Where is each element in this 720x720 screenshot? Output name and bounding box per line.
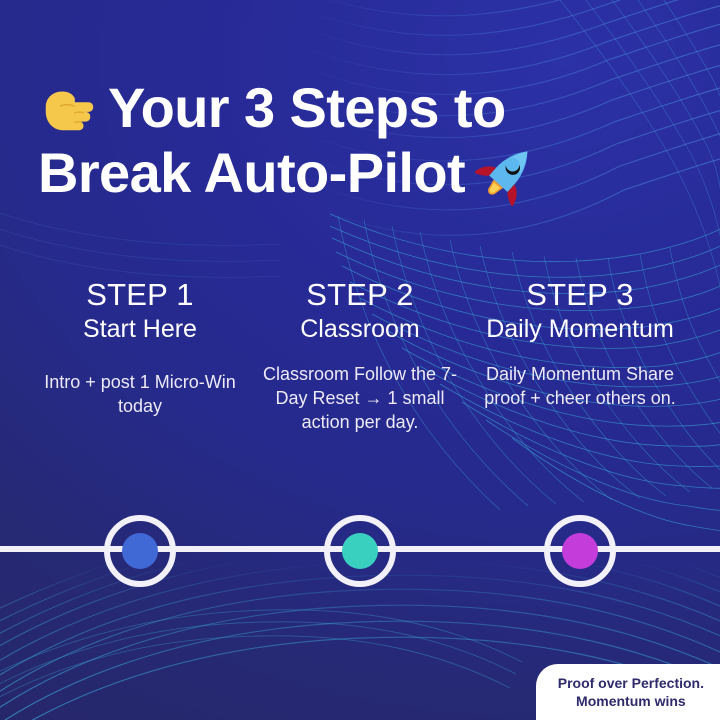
infographic-canvas: Your 3 Steps to Break Auto-Pilot [0,0,720,720]
headline-line-2: Break Auto-Pilot [38,140,678,206]
pointing-right-hand-icon [38,77,100,139]
timeline-node-cell-2 [250,515,470,587]
timeline-dot-3 [562,533,598,569]
timeline-node-cell-1 [30,515,250,587]
step-column-1: STEP 1 Start Here Intro + post 1 Micro-W… [30,276,250,418]
step-3-title: STEP 3 [476,276,684,314]
timeline-dot-2 [342,533,378,569]
headline-line-1: Your 3 Steps to [38,76,678,140]
timeline-node-2[interactable] [324,515,396,587]
step-1-title: STEP 1 [36,276,244,314]
headline-text-1: Your 3 Steps to [108,76,506,140]
step-2-title: STEP 2 [256,276,464,314]
step-2-subtitle: Classroom [256,314,464,344]
timeline-node-1[interactable] [104,515,176,587]
step-column-2: STEP 2 Classroom Classroom Follow the 7-… [250,276,470,434]
step-1-subtitle: Start Here [36,314,244,344]
headline-text-2: Break Auto-Pilot [38,141,465,205]
timeline-nodes [30,506,690,596]
tagline-line-2: Momentum wins [558,692,704,710]
timeline-node-cell-3 [470,515,690,587]
step-3-subtitle: Daily Momentum [476,314,684,344]
timeline-dot-1 [122,533,158,569]
timeline-node-3[interactable] [544,515,616,587]
tagline-line-1: Proof over Perfection. [558,674,704,692]
step-2-body: Classroom Follow the 7-Day Reset → 1 sma… [256,362,464,434]
step-column-3: STEP 3 Daily Momentum Daily Momentum Sha… [470,276,690,410]
steps-row: STEP 1 Start Here Intro + post 1 Micro-W… [30,276,690,434]
headline: Your 3 Steps to Break Auto-Pilot [38,76,678,206]
step-3-body: Daily Momentum Share proof + cheer other… [476,362,684,410]
rocket-icon [475,140,541,206]
tagline-badge: Proof over Perfection. Momentum wins [536,664,720,720]
step-1-body: Intro + post 1 Micro-Win today [36,370,244,418]
